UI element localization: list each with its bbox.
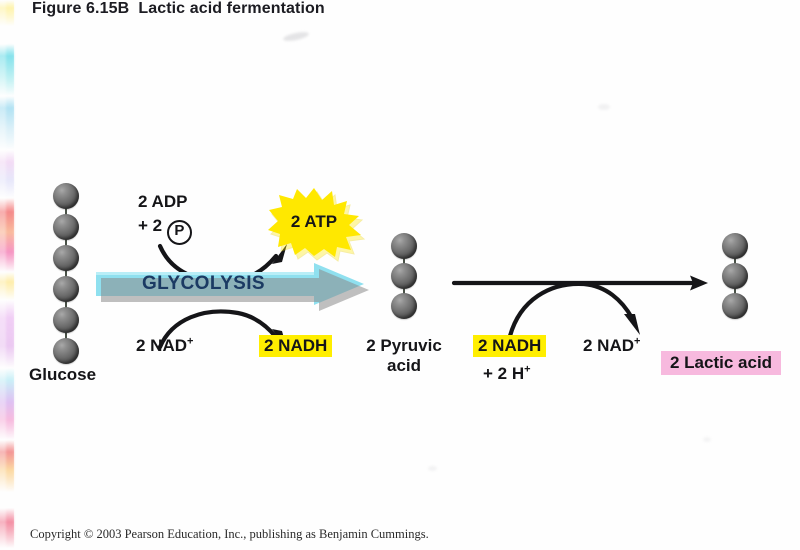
glucose-carbon-5 xyxy=(53,307,79,333)
fermentation-nad-label: 2 NAD+ xyxy=(583,336,640,356)
fermentation-hydrogen-label: + 2 H+ xyxy=(483,364,531,384)
scan-smudge-top xyxy=(283,30,310,42)
adp-label: 2 ADP xyxy=(138,192,187,212)
pyruvic-acid-label: 2 Pyruvic acid xyxy=(352,336,456,375)
scan-smudge-right xyxy=(703,437,711,442)
hydrogen-text: + 2 H xyxy=(483,364,524,383)
pyruvic-carbon-1 xyxy=(391,233,417,259)
atp-label: 2 ATP xyxy=(266,212,362,232)
lactic-acid-molecule xyxy=(722,233,748,321)
glycolysis-label: GLYCOLYSIS xyxy=(96,273,311,295)
nadh-to-nad-curved-arrow xyxy=(506,278,656,340)
hydrogen-charge: + xyxy=(524,363,530,375)
fermentation-nad-charge: + xyxy=(634,335,640,347)
glucose-carbon-4 xyxy=(53,276,79,302)
pyruvic-label-line-2: acid xyxy=(352,356,456,376)
fermentation-nadh-label: 2 NADH xyxy=(473,336,546,356)
phosphate-prefix: + 2 xyxy=(138,216,162,235)
copyright-notice: Copyright © 2003 Pearson Education, Inc.… xyxy=(30,527,429,542)
nad-input-charge: + xyxy=(187,335,193,347)
lactic-acid-label: 2 Lactic acid xyxy=(661,353,781,373)
fermentation-nad-text: 2 NAD xyxy=(583,336,634,355)
adp-line-1: 2 ADP xyxy=(138,192,187,211)
lactic-carbon-3 xyxy=(722,293,748,319)
glucose-label: Glucose xyxy=(29,365,96,385)
pyruvic-carbon-3 xyxy=(391,293,417,319)
nad-input-text: 2 NAD xyxy=(136,336,187,355)
scan-smudge-mid xyxy=(598,104,610,110)
scan-smudge-low xyxy=(428,466,437,471)
nadh-output-text: 2 NADH xyxy=(259,335,332,357)
pyruvic-carbon-2 xyxy=(391,263,417,289)
nad-input-label: 2 NAD+ xyxy=(136,336,193,356)
pyruvic-label-line-1: 2 Pyruvic xyxy=(352,336,456,356)
glucose-carbon-2 xyxy=(53,214,79,240)
glucose-carbon-3 xyxy=(53,245,79,271)
atp-burst: 2 ATP xyxy=(266,186,362,258)
lactic-carbon-1 xyxy=(722,233,748,259)
figure-title: Figure 6.15B Lactic acid fermentation xyxy=(32,0,325,18)
lactic-acid-text: 2 Lactic acid xyxy=(661,351,781,375)
lactic-carbon-2 xyxy=(722,263,748,289)
scan-edge-artifact-secondary xyxy=(6,0,14,550)
glucose-carbon-6 xyxy=(53,338,79,364)
glucose-molecule xyxy=(53,183,79,363)
glucose-carbon-1 xyxy=(53,183,79,209)
nadh-output-label: 2 NADH xyxy=(259,336,332,356)
pyruvic-acid-molecule xyxy=(391,233,417,321)
glycolysis-arrow: GLYCOLYSIS xyxy=(96,263,366,305)
fermentation-nadh-text: 2 NADH xyxy=(473,335,546,357)
figure-canvas: Figure 6.15B Lactic acid fermentation Gl… xyxy=(0,0,800,550)
